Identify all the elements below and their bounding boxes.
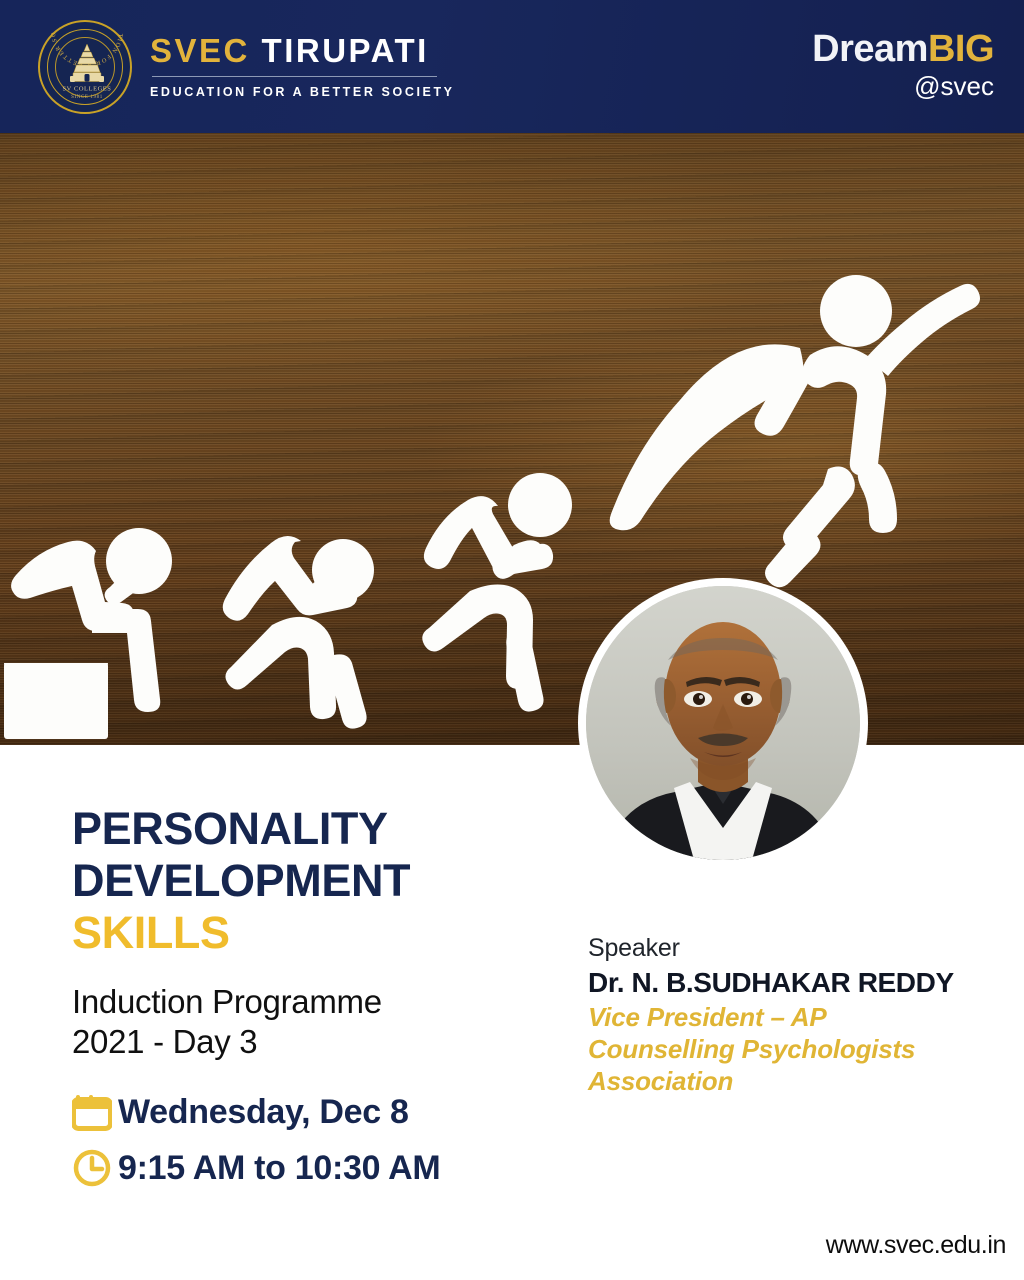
event-subtitle: Induction Programme 2021 - Day 3 [72, 982, 542, 1063]
title-line-3: SKILLS [72, 907, 542, 959]
brand-tagline: EDUCATION FOR A BETTER SOCIETY [150, 85, 455, 99]
speaker-label: Speaker [588, 935, 1008, 963]
event-time-text: 9:15 AM to 10:30 AM [118, 1149, 440, 1188]
seated-thinker-figure [4, 528, 172, 739]
brand-block: EDUCATION FOR A BETTER SOCIETY [38, 20, 455, 114]
college-seal-logo: EDUCATION FOR A BETTER SOCIETY [38, 20, 132, 114]
campaign-word-big: BIG [928, 28, 994, 70]
hunched-walking-figure [422, 473, 572, 712]
speaker-name: Dr. N. B.SUDHAKAR REDDY [588, 966, 1008, 1000]
poster-header: EDUCATION FOR A BETTER SOCIETY [0, 0, 1024, 133]
subtitle-line-2: 2021 - Day 3 [72, 1023, 257, 1060]
campaign-word-dream: Dream [812, 28, 928, 70]
poster-content: PERSONALITY DEVELOPMENT SKILLS Induction… [0, 745, 1024, 1280]
superhero-caped-figure [610, 275, 980, 587]
event-poster: EDUCATION FOR A BETTER SOCIETY [0, 0, 1024, 1280]
svg-text:SV COLLEGES: SV COLLEGES [63, 85, 112, 92]
hero-image-wood-background [0, 133, 1024, 745]
title-line-1: PERSONALITY [72, 803, 388, 854]
speaker-role-line-3: Association [588, 1066, 733, 1096]
crouching-crawling-figure [223, 536, 374, 729]
website-url[interactable]: www.svec.edu.in [826, 1231, 1006, 1260]
brand-primary-text: SVEC [150, 32, 250, 69]
event-meta-list: Wednesday, Dec 8 9:15 AM to 10:30 AM [72, 1092, 542, 1188]
event-date-text: Wednesday, Dec 8 [118, 1093, 409, 1132]
speaker-role-line-2: Counselling Psychologists [588, 1034, 915, 1064]
brand-wordmark: SVEC TIRUPATI EDUCATION FOR A BETTER SOC… [150, 34, 455, 100]
speaker-role-line-1: Vice President – AP [588, 1002, 827, 1032]
subtitle-line-1: Induction Programme [72, 983, 382, 1020]
speaker-role: Vice President – AP Counselling Psycholo… [588, 1002, 1008, 1097]
speaker-portrait-illustration [586, 586, 860, 860]
svg-text:SINCE 1981: SINCE 1981 [71, 95, 103, 100]
campaign-title: DreamBIG [812, 30, 994, 68]
speaker-photo-frame [578, 578, 868, 868]
dream-big-campaign: DreamBIG @svec [812, 30, 994, 103]
speaker-portrait [586, 586, 860, 860]
brand-divider [152, 76, 437, 78]
campaign-handle: @svec [812, 70, 994, 103]
brand-title-row: SVEC TIRUPATI [150, 34, 455, 67]
event-info-column: PERSONALITY DEVELOPMENT SKILLS Induction… [72, 803, 542, 1204]
speaker-info-column: Speaker Dr. N. B.SUDHAKAR REDDY Vice Pre… [588, 935, 1008, 1097]
event-time-row: 9:15 AM to 10:30 AM [72, 1148, 542, 1188]
event-date-row: Wednesday, Dec 8 [72, 1092, 542, 1132]
temple-gopuram-icon: EDUCATION FOR A BETTER SOCIETY [40, 22, 134, 116]
evolution-figures-group [0, 133, 1024, 745]
title-line-2: DEVELOPMENT [72, 855, 410, 906]
calendar-icon [72, 1092, 118, 1132]
page-title: PERSONALITY DEVELOPMENT SKILLS [72, 803, 542, 960]
brand-secondary-text: TIRUPATI [262, 32, 429, 69]
clock-icon [72, 1148, 118, 1188]
